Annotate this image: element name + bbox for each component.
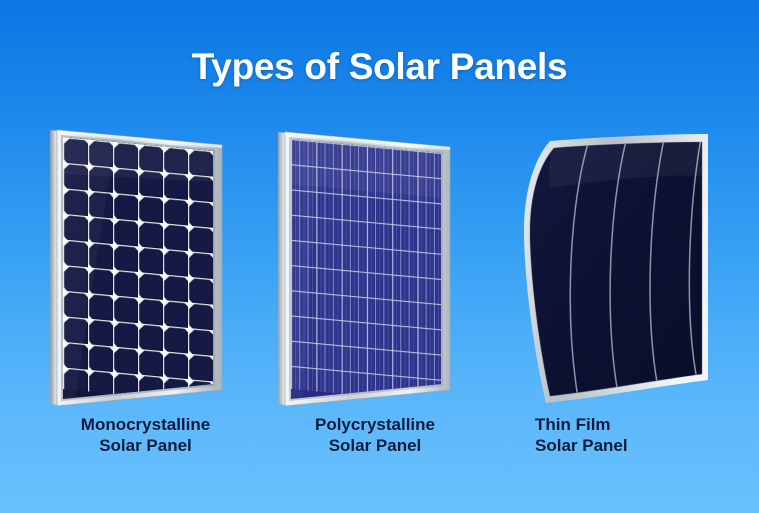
thin-film-panel-illustration	[478, 112, 723, 412]
caption-monocrystalline: Monocrystalline Solar Panel	[41, 414, 250, 456]
solar-panel-infographic: Types of Solar Panels	[0, 0, 759, 513]
caption-thin-film: Thin Film Solar Panel	[535, 414, 735, 456]
poly-cell-array	[278, 122, 458, 412]
monocrystalline-panel-illustration	[30, 112, 240, 412]
polycrystalline-panel-illustration	[258, 112, 468, 412]
mono-cell-array	[50, 122, 230, 412]
page-title: Types of Solar Panels	[0, 46, 759, 88]
caption-polycrystalline: Polycrystalline Solar Panel	[280, 414, 470, 456]
